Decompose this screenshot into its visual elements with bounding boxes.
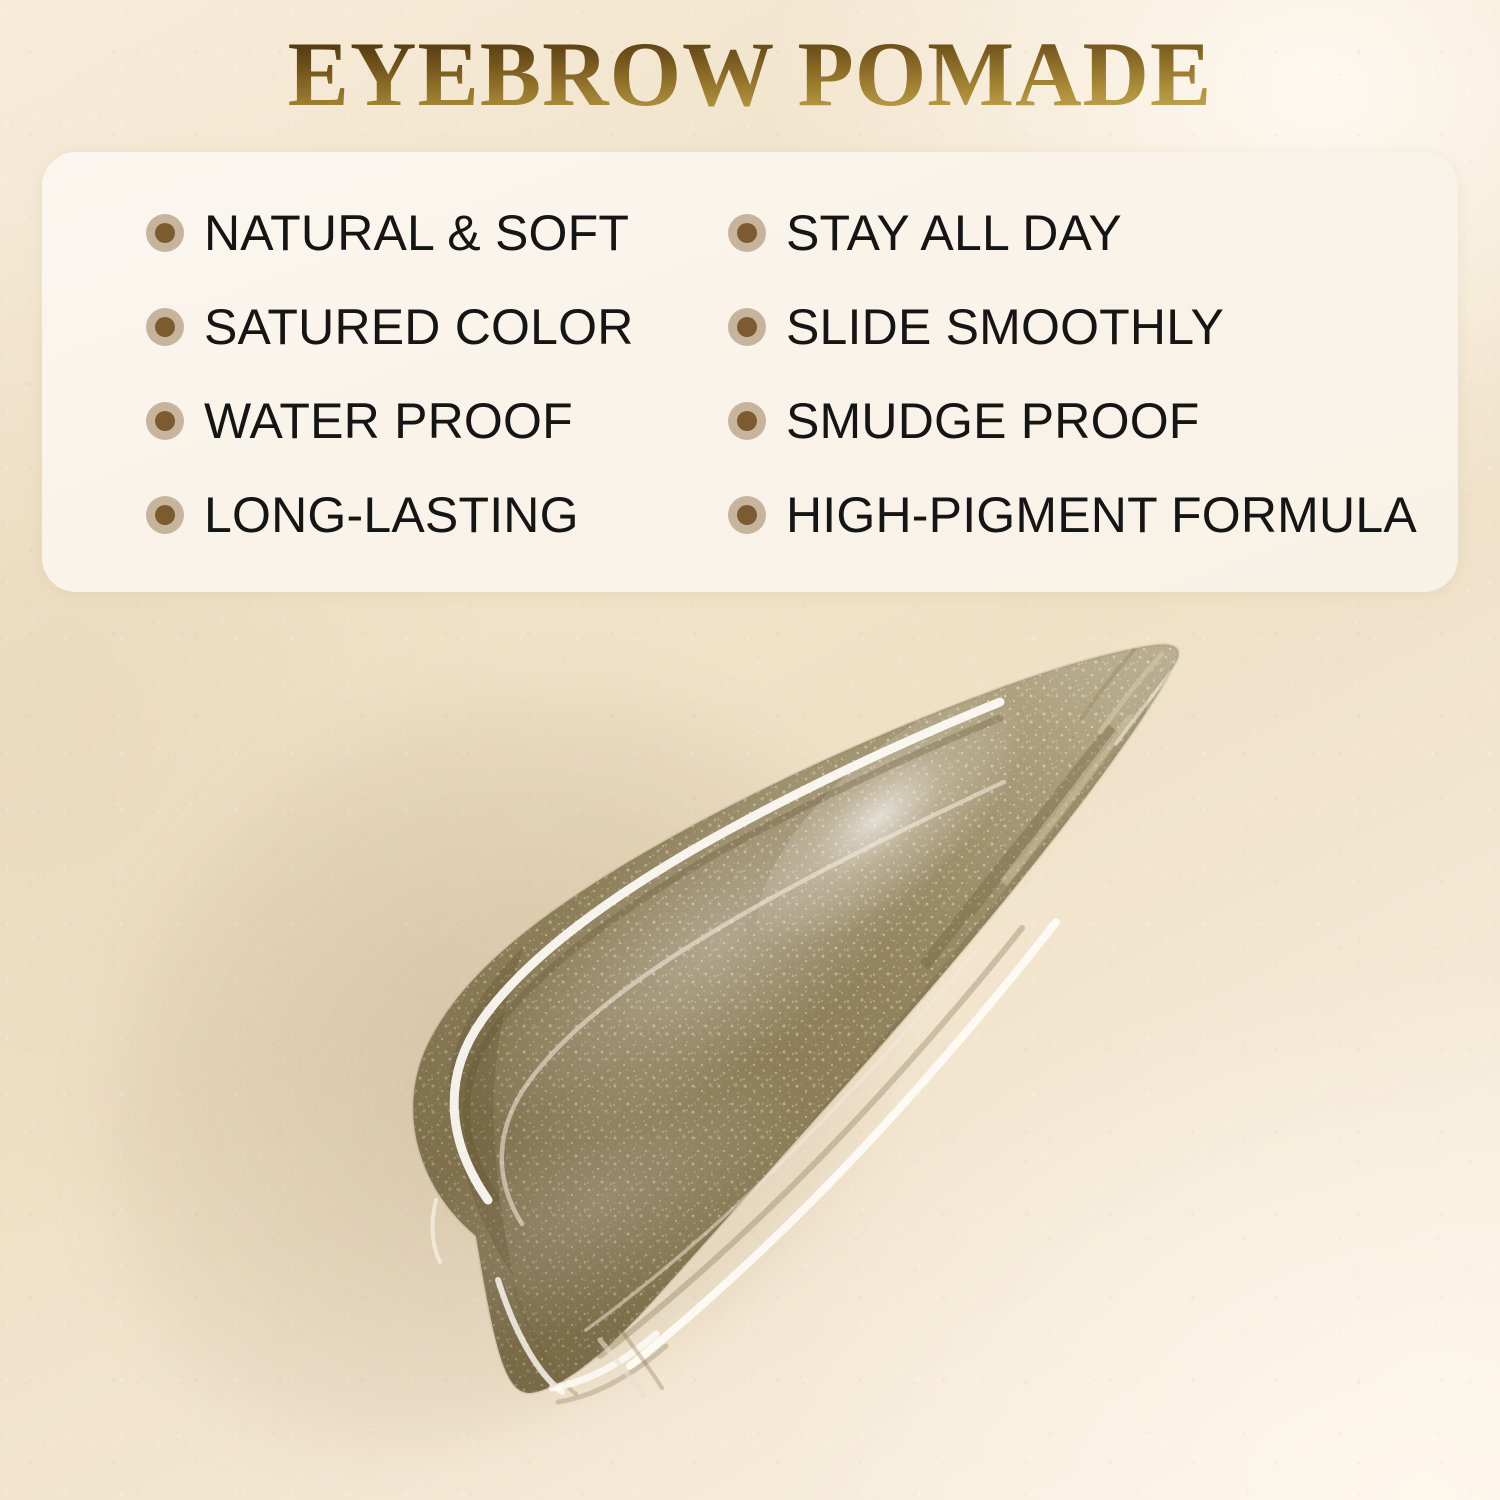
- feature-list-card: NATURAL & SOFT STAY ALL DAY SATURED COLO…: [42, 152, 1458, 592]
- feature-label: WATER PROOF: [204, 396, 573, 446]
- feature-label: SATURED COLOR: [204, 302, 634, 352]
- pomade-swatch-image: [300, 640, 1280, 1460]
- feature-label: NATURAL & SOFT: [204, 208, 629, 258]
- bullet-dot-icon: [728, 214, 766, 252]
- bullet-dot-icon: [728, 308, 766, 346]
- feature-item-natural-soft: NATURAL & SOFT: [68, 186, 668, 280]
- bullet-dot-icon: [146, 402, 184, 440]
- feature-item-long-lasting: LONG-LASTING: [68, 468, 668, 562]
- pomade-swatch-svg: [300, 640, 1280, 1460]
- page-title: EYEBROW POMADE: [0, 26, 1500, 123]
- feature-item-high-pigment-formula: HIGH-PIGMENT FORMULA: [668, 468, 1432, 562]
- feature-grid: NATURAL & SOFT STAY ALL DAY SATURED COLO…: [68, 186, 1432, 562]
- feature-label: HIGH-PIGMENT FORMULA: [786, 490, 1417, 540]
- feature-item-stay-all-day: STAY ALL DAY: [668, 186, 1432, 280]
- bullet-dot-icon: [146, 496, 184, 534]
- bullet-dot-icon: [146, 308, 184, 346]
- bullet-dot-icon: [146, 214, 184, 252]
- feature-item-satured-color: SATURED COLOR: [68, 280, 668, 374]
- bullet-dot-icon: [728, 402, 766, 440]
- feature-label: SMUDGE PROOF: [786, 396, 1200, 446]
- bullet-dot-icon: [728, 496, 766, 534]
- feature-label: STAY ALL DAY: [786, 208, 1122, 258]
- feature-item-smudge-proof: SMUDGE PROOF: [668, 374, 1432, 468]
- product-infographic-page: EYEBROW POMADE NATURAL & SOFT STAY ALL D…: [0, 0, 1500, 1500]
- feature-item-slide-smoothly: SLIDE SMOOTHLY: [668, 280, 1432, 374]
- feature-label: SLIDE SMOOTHLY: [786, 302, 1224, 352]
- product-swatch-area: [0, 600, 1500, 1500]
- swatch-body: [300, 640, 1280, 1460]
- feature-item-water-proof: WATER PROOF: [68, 374, 668, 468]
- feature-label: LONG-LASTING: [204, 490, 579, 540]
